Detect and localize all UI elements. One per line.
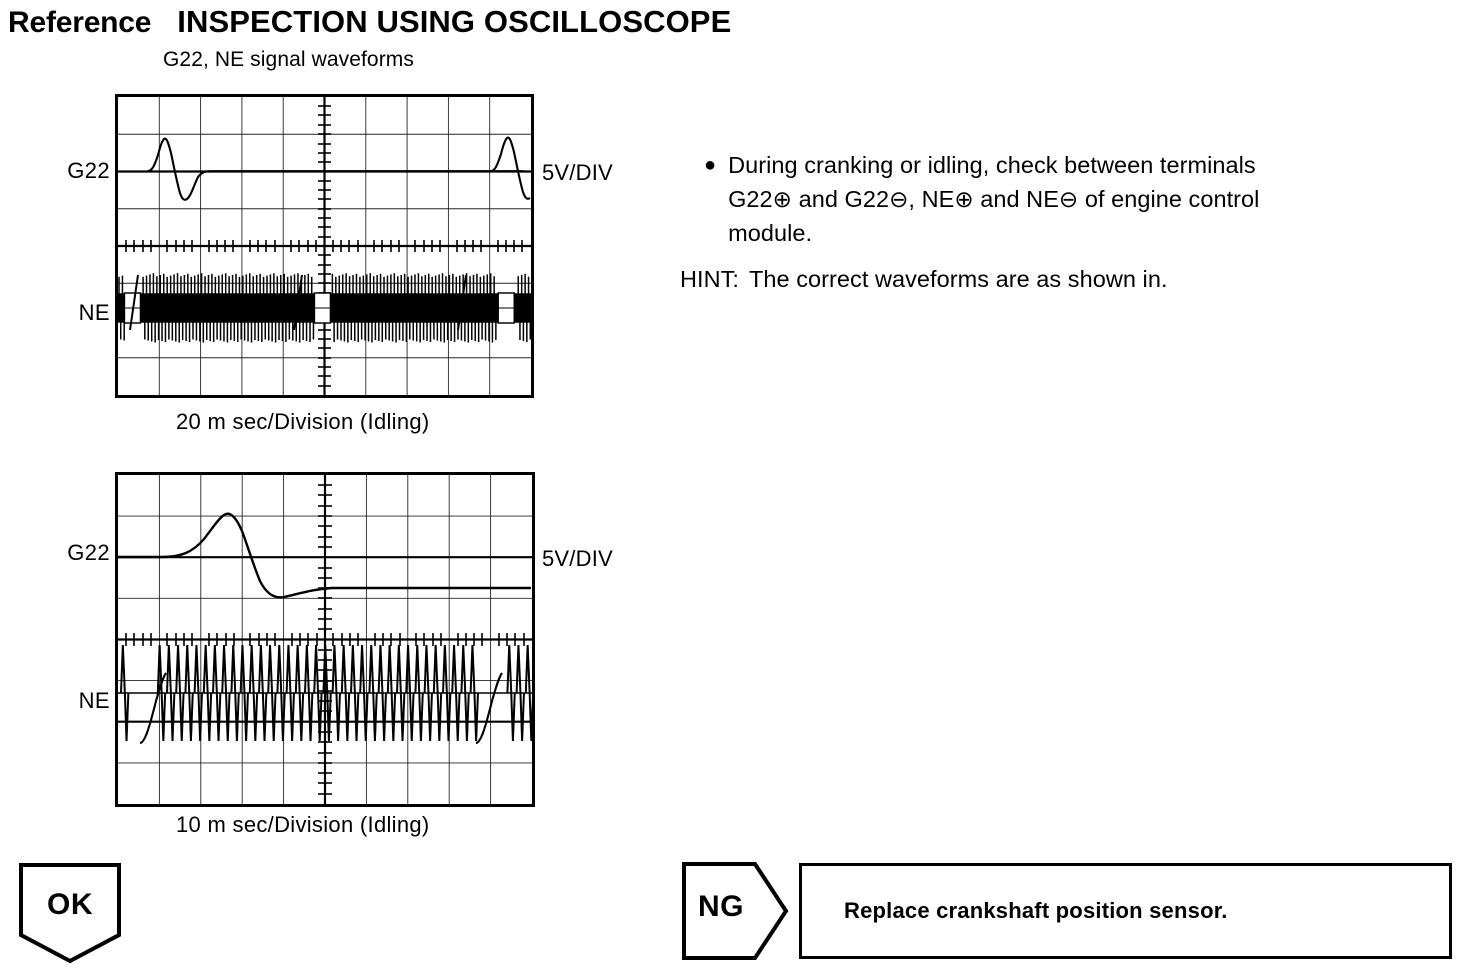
scope-1-trace <box>118 97 531 395</box>
scope-2-volts-per-div-label: 5V/DIV <box>542 546 613 572</box>
minus-circle-icon: ⊖ <box>889 186 908 212</box>
scope-1-timebase-caption: 20 m sec/Division (Idling) <box>176 409 430 435</box>
hint-label: HINT: <box>680 266 739 292</box>
note-line-2-d: and NE <box>974 186 1059 212</box>
minus-circle-icon-2: ⊖ <box>1059 186 1078 212</box>
note-line-3: module. <box>728 220 812 246</box>
note-line-2-b: and G22 <box>792 186 889 212</box>
reference-label: Reference <box>8 6 151 40</box>
ng-verdict-badge: NG <box>681 861 789 961</box>
note-line-1: During cranking or idling, check between… <box>728 152 1256 178</box>
plus-circle-icon: ⊕ <box>773 186 792 212</box>
ng-action-text: Replace crankshaft position sensor. <box>802 898 1228 924</box>
scope-2-channel-ne-label: NE <box>52 688 110 714</box>
ng-label: NG <box>681 890 761 924</box>
page-header: Reference INSPECTION USING OSCILLOSCOPE <box>8 4 731 40</box>
note-bullet-item: ● During cranking or idling, check betwe… <box>680 148 1460 250</box>
note-line-2-c: , NE <box>908 186 954 212</box>
notes-panel: ● During cranking or idling, check betwe… <box>680 148 1460 296</box>
page-title: INSPECTION USING OSCILLOSCOPE <box>177 4 731 40</box>
bullet-icon: ● <box>680 148 716 182</box>
note-line-2-e: of engine control <box>1078 186 1259 212</box>
hint-text: The correct waveforms are as shown in. <box>749 266 1168 292</box>
scope-2-screen <box>115 472 535 807</box>
ok-verdict-badge: OK <box>18 862 122 964</box>
scope-1-heading: G22, NE signal waveforms <box>163 48 414 72</box>
note-bullet-text: During cranking or idling, check between… <box>728 148 1259 250</box>
scope-2-timebase-caption: 10 m sec/Division (Idling) <box>176 812 430 838</box>
scope-1-channel-ne-label: NE <box>52 300 110 326</box>
scope-2-channel-g22-label: G22 <box>52 540 110 566</box>
scope-1-screen <box>115 94 534 398</box>
ng-action-box: Replace crankshaft position sensor. <box>799 863 1452 959</box>
hint-row: HINT:The correct waveforms are as shown … <box>680 262 1460 296</box>
scope-1-volts-per-div-label: 5V/DIV <box>542 160 613 186</box>
ok-label: OK <box>18 888 122 922</box>
note-line-2-a: G22 <box>728 186 773 212</box>
scope-1-channel-g22-label: G22 <box>52 158 110 184</box>
plus-circle-icon-2: ⊕ <box>954 186 973 212</box>
scope-2-trace <box>118 475 532 804</box>
